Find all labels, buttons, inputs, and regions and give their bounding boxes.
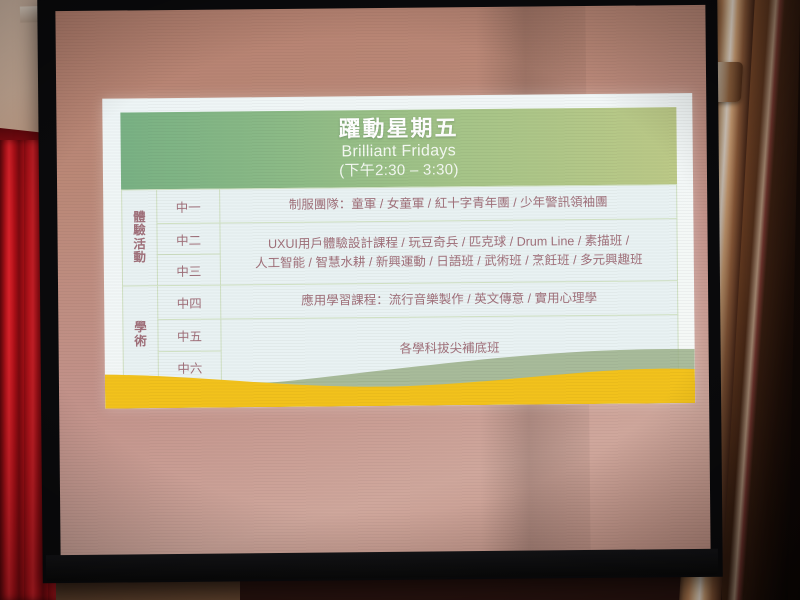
level-cell-f1: 中一 — [157, 189, 220, 224]
slide-time-range: (下午2:30 – 3:30) — [339, 162, 459, 181]
level-cell-f2: 中二 — [157, 223, 220, 255]
slide-title-english: Brilliant Fridays — [341, 142, 456, 162]
content-cell-f4: 應用學習課程：流行音樂製作 / 英文傳意 / 實用心理學 — [221, 281, 678, 319]
category-char: 活 — [123, 238, 157, 251]
content-cell-f1: 制服團隊：童軍 / 女童軍 / 紅十字青年團 / 少年警訊領袖團 — [220, 185, 677, 223]
level-cell-f4: 中四 — [158, 285, 221, 320]
photo-scene: 躍動星期五 Brilliant Fridays (下午2:30 – 3:30) … — [0, 0, 800, 600]
table-row: 學 術 中四 應用學習課程：流行音樂製作 / 英文傳意 / 實用心理學 — [123, 281, 678, 320]
category-char: 動 — [123, 251, 157, 264]
table-row: 體 驗 活 動 中一 制服團隊：童軍 / 女童軍 / 紅十字青年團 / 少年警訊… — [122, 185, 677, 224]
content-cell-f2-f3: UXUI用戶體驗設計課程 / 玩豆奇兵 / 匹克球 / Drum Line / … — [220, 219, 678, 285]
projector-screen-surface: 躍動星期五 Brilliant Fridays (下午2:30 – 3:30) … — [55, 5, 710, 559]
slide-content: 躍動星期五 Brilliant Fridays (下午2:30 – 3:30) … — [102, 93, 695, 409]
slide-footer-waves — [104, 325, 695, 409]
presentation-slide: 躍動星期五 Brilliant Fridays (下午2:30 – 3:30) … — [102, 93, 695, 409]
slide-header: 躍動星期五 Brilliant Fridays (下午2:30 – 3:30) — [120, 107, 677, 189]
level-cell-f3: 中三 — [157, 254, 220, 286]
category-char: 驗 — [122, 225, 156, 238]
slide-title-chinese: 躍動星期五 — [338, 116, 458, 142]
wave-graphic — [104, 325, 695, 409]
content-line-2: 人工智能 / 智慧水耕 / 新興運動 / 日語班 / 武術班 / 烹飪班 / 多… — [221, 250, 677, 273]
table-row: 中二 UXUI用戶體驗設計課程 / 玩豆奇兵 / 匹克球 / Drum Line… — [122, 219, 677, 255]
category-cell-experience: 體 驗 活 動 — [122, 190, 158, 286]
